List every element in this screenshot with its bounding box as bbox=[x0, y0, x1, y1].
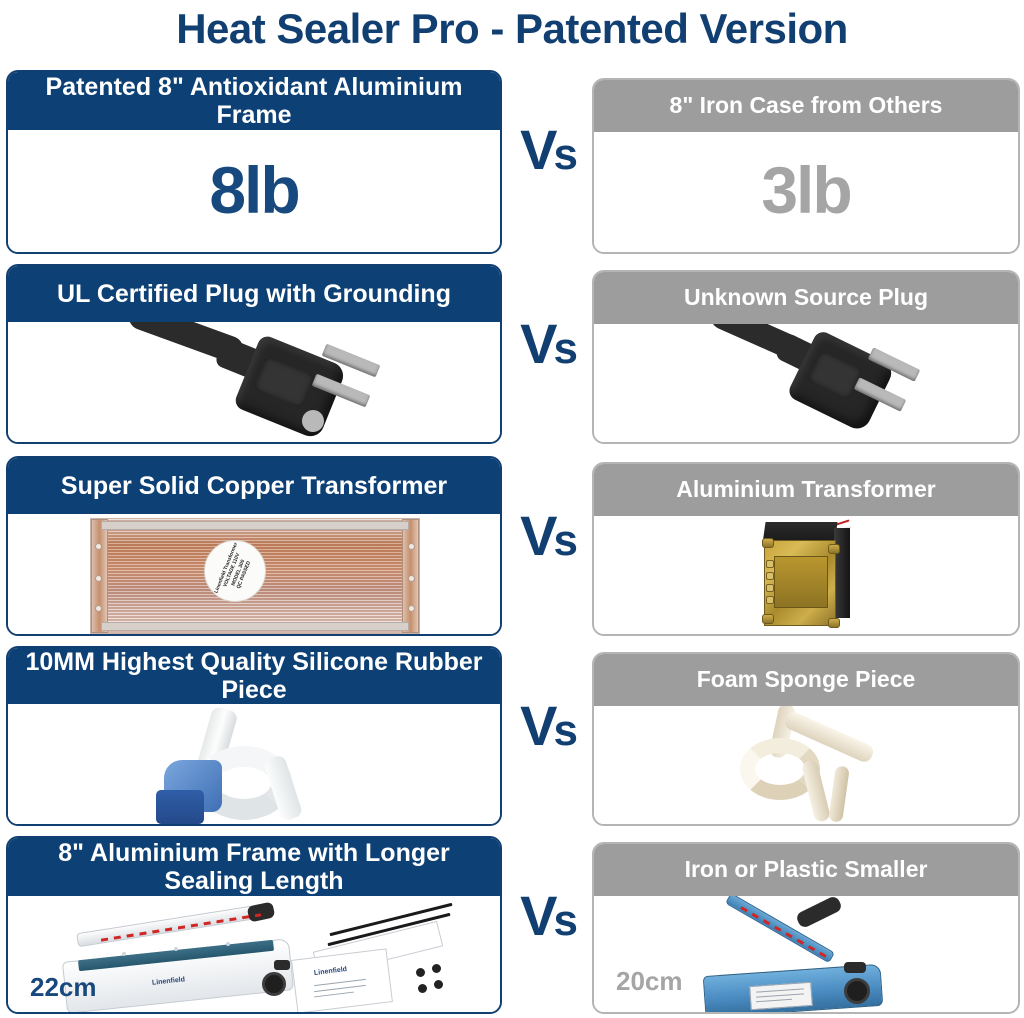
silicone-rubber-tube-icon bbox=[156, 704, 366, 824]
vs-letter-v: V bbox=[520, 312, 553, 375]
vs-letter-v: V bbox=[520, 694, 553, 757]
product-card-copper-transformer: Super Solid Copper Transformer bbox=[6, 456, 502, 636]
card-body-iron-case: 3lb bbox=[594, 132, 1018, 252]
card-header-silicone-rubber: 10MM Highest Quality Silicone Rubber Pie… bbox=[8, 648, 500, 704]
vs-badge-5: Vs bbox=[504, 888, 590, 944]
card-header-iron-plastic: Iron or Plastic Smaller bbox=[594, 844, 1018, 896]
vs-letter-s: s bbox=[553, 706, 573, 755]
product-card-ul-plug: UL Certified Plug with Grounding bbox=[6, 264, 502, 444]
card-body-ul-plug bbox=[8, 322, 500, 442]
vs-letter-v: V bbox=[520, 504, 553, 567]
page-title: Heat Sealer Pro - Patented Version bbox=[0, 2, 1024, 56]
weight-value-product: 8lb bbox=[8, 152, 500, 228]
card-header-copper-transformer: Super Solid Copper Transformer bbox=[8, 458, 500, 514]
vs-badge-2: Vs bbox=[504, 316, 590, 372]
card-header-aluminium-frame: Patented 8" Antioxidant Aluminium Frame bbox=[8, 72, 500, 130]
weight-value-competitor: 3lb bbox=[594, 152, 1018, 228]
competitor-card-unknown-plug: Unknown Source Plug bbox=[592, 270, 1020, 444]
competitor-card-foam-sponge: Foam Sponge Piece bbox=[592, 652, 1020, 826]
vs-letter-s: s bbox=[553, 896, 573, 945]
vs-letter-s: s bbox=[553, 324, 573, 373]
card-header-foam-sponge: Foam Sponge Piece bbox=[594, 654, 1018, 706]
comparison-infographic: Heat Sealer Pro - Patented Version Paten… bbox=[0, 0, 1024, 1018]
sealer-accessories-icon: Linenfield bbox=[276, 902, 466, 1012]
competitor-card-iron-case: 8" Iron Case from Others 3lb bbox=[592, 78, 1020, 254]
blue-heat-sealer-icon bbox=[694, 898, 954, 1012]
size-label-product: 22cm bbox=[30, 972, 97, 1003]
card-body-sealing-length: 22cm Linenfield bbox=[8, 896, 500, 1014]
foam-sponge-rope-icon bbox=[712, 706, 922, 824]
card-body-unknown-plug bbox=[594, 324, 1018, 442]
card-header-iron-case: 8" Iron Case from Others bbox=[594, 80, 1018, 132]
product-card-aluminium-frame: Patented 8" Antioxidant Aluminium Frame … bbox=[6, 70, 502, 254]
two-prong-plug-icon bbox=[682, 324, 942, 442]
comparison-row-weight: Patented 8" Antioxidant Aluminium Frame … bbox=[0, 70, 1024, 254]
card-header-aluminium-transformer: Aluminium Transformer bbox=[594, 464, 1018, 516]
vs-badge-1: Vs bbox=[504, 122, 590, 178]
vs-letter-v: V bbox=[520, 118, 553, 181]
card-body-silicone-rubber bbox=[8, 704, 500, 824]
competitor-card-aluminium-transformer: Aluminium Transformer bbox=[592, 462, 1020, 636]
vs-letter-s: s bbox=[553, 516, 573, 565]
card-body-copper-transformer: Linenfield Transformer VOLTAGE 110V MODE… bbox=[8, 514, 500, 634]
product-card-silicone-rubber: 10MM Highest Quality Silicone Rubber Pie… bbox=[6, 646, 502, 826]
card-header-unknown-plug: Unknown Source Plug bbox=[594, 272, 1018, 324]
transformer-spec-label: Linenfield Transformer VOLTAGE 110V MODE… bbox=[204, 540, 266, 602]
size-label-competitor: 20cm bbox=[616, 966, 683, 997]
comparison-row-rubber: 10MM Highest Quality Silicone Rubber Pie… bbox=[0, 646, 1024, 826]
comparison-row-sealer: 8" Aluminium Frame with Longer Sealing L… bbox=[0, 836, 1024, 1016]
product-card-sealing-length: 8" Aluminium Frame with Longer Sealing L… bbox=[6, 836, 502, 1014]
three-prong-grounded-plug-icon bbox=[126, 322, 406, 442]
vs-letter-s: s bbox=[553, 130, 573, 179]
comparison-row-plug: UL Certified Plug with Grounding Vs Unkn… bbox=[0, 264, 1024, 444]
comparison-row-transformer: Super Solid Copper Transformer bbox=[0, 456, 1024, 636]
vs-letter-v: V bbox=[520, 884, 553, 947]
competitor-card-iron-plastic: Iron or Plastic Smaller 20cm bbox=[592, 842, 1020, 1014]
card-header-sealing-length: 8" Aluminium Frame with Longer Sealing L… bbox=[8, 838, 500, 896]
card-body-foam-sponge bbox=[594, 706, 1018, 824]
aluminium-transformer-icon bbox=[754, 522, 864, 630]
card-header-ul-plug: UL Certified Plug with Grounding bbox=[8, 266, 500, 322]
vs-badge-4: Vs bbox=[504, 698, 590, 754]
card-body-aluminium-frame: 8lb bbox=[8, 130, 500, 252]
card-body-iron-plastic: 20cm bbox=[594, 896, 1018, 1012]
card-body-aluminium-transformer bbox=[594, 516, 1018, 634]
transformer-spec-label-text: Linenfield Transformer VOLTAGE 110V MODE… bbox=[213, 541, 256, 601]
vs-badge-3: Vs bbox=[504, 508, 590, 564]
